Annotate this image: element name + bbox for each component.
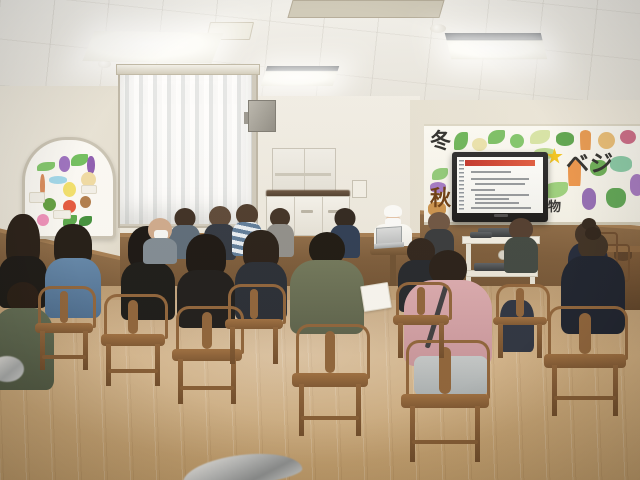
- slide-title-bar: [465, 160, 535, 166]
- banner-kanji-autumn: 秋: [430, 188, 451, 209]
- slide-text-line: [475, 194, 529, 196]
- slide-text-line: [471, 207, 531, 209]
- banner-veg-cabbage: [488, 130, 505, 144]
- chair[interactable]: [406, 340, 484, 462]
- chair[interactable]: [496, 284, 544, 358]
- chair[interactable]: [38, 286, 90, 370]
- banner-veg-leaf: [432, 168, 448, 180]
- slide-text-line: [475, 183, 525, 185]
- banner-veg-eggplant-3: [630, 174, 640, 196]
- window-curtain[interactable]: [120, 72, 252, 224]
- slide-spiral-binding: [459, 160, 464, 211]
- banner-veg-eggplant-2: [582, 188, 596, 210]
- slide-text-line: [471, 171, 511, 173]
- cabinet-shelf-board: [275, 173, 331, 176]
- poster-label-tag: [29, 192, 45, 203]
- chair[interactable]: [296, 324, 364, 436]
- av-equipment: [470, 232, 492, 238]
- poster-veg-cabbage: [71, 154, 88, 166]
- slide-text-line: [471, 189, 495, 191]
- presentation-monitor[interactable]: [452, 152, 548, 222]
- monitor-brand-logo: [494, 214, 508, 217]
- ceiling-light-right: [445, 33, 547, 59]
- wall-speaker: [248, 100, 276, 132]
- light-switch-plate[interactable]: [352, 180, 367, 198]
- poster-veg-lettuce: [37, 162, 55, 171]
- poster-veg-eggplant: [59, 156, 70, 172]
- meeting-room-photo: 冬 秋 よこ ベジ 日市で る農作物: [0, 0, 640, 480]
- attendee-greenish-back: [504, 218, 538, 270]
- banner-veg-pepper-2: [606, 188, 626, 208]
- attendee-white-mask: [142, 218, 178, 262]
- chair[interactable]: [104, 294, 162, 386]
- slide-text-line: [475, 202, 519, 204]
- chair[interactable]: [548, 306, 622, 416]
- poster-veg-lemon: [63, 182, 76, 197]
- banner-veg-lettuce: [530, 130, 550, 144]
- ceiling-light-left: [82, 31, 223, 63]
- ceiling-vent: [287, 0, 444, 18]
- chair[interactable]: [396, 282, 446, 358]
- banner-veg-beet: [620, 130, 636, 144]
- slide-text-line: [475, 198, 509, 200]
- handout-papers[interactable]: [360, 282, 392, 312]
- poster-veg-mushroom: [80, 196, 91, 208]
- slide-text-line: [471, 178, 529, 180]
- presenter-cap: [384, 205, 402, 217]
- curtain-rail: [116, 64, 260, 75]
- poster-label-tag-2: [53, 210, 71, 219]
- presenter-face-mask: [385, 218, 401, 226]
- monitor-screen: [457, 157, 543, 213]
- ceiling-light-center: [261, 66, 339, 86]
- ceiling-speaker-dome: [430, 24, 446, 33]
- poster-label-tag-3: [81, 185, 97, 194]
- chair[interactable]: [228, 284, 280, 364]
- banner-kanji-winter: 冬: [430, 131, 451, 152]
- banner-veg-onion: [472, 138, 487, 151]
- cabinet-handle[interactable]: [301, 210, 313, 213]
- banner-title-part2: ベジ: [566, 144, 614, 178]
- banner-veg-greens: [454, 132, 468, 150]
